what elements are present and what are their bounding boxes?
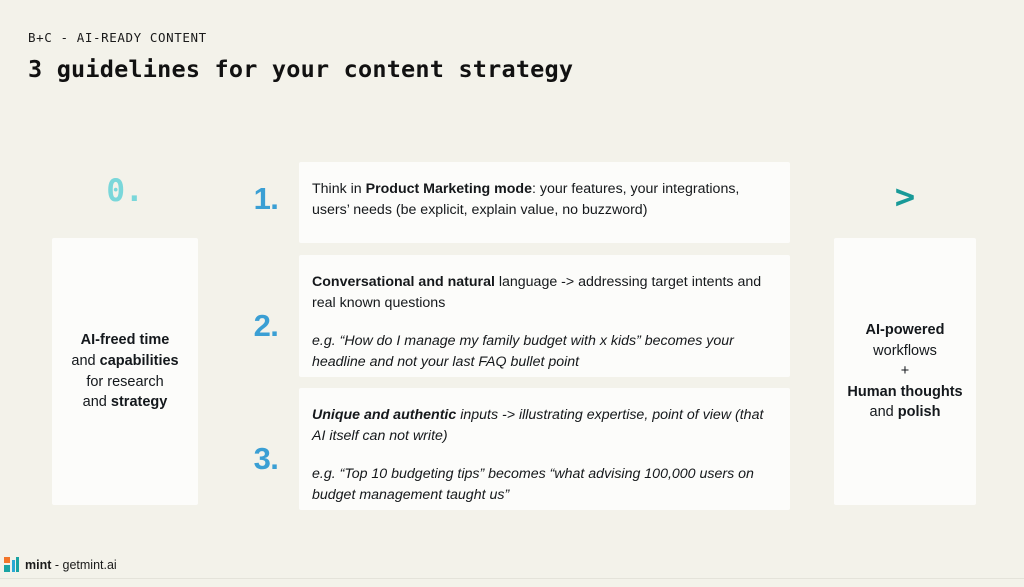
guideline-card-2: Conversational and natural language -> a… [299,255,790,377]
line-bold: AI-freed time [81,332,170,348]
outcome-left-line-2: and capabilities [71,351,178,372]
body-bold: Unique and authentic [312,407,456,423]
line-pre: and [71,353,99,369]
guideline-2-body: Conversational and natural language -> a… [312,272,771,314]
line-pre: + [901,363,909,379]
guideline-2-example: e.g. “How do I manage my family budget w… [312,331,771,373]
line-pre: workflows [873,343,937,359]
guideline-3-body: Unique and authentic inputs -> illustrat… [312,405,771,447]
mint-bar-logo-icon [4,557,19,572]
guideline-card-3: Unique and authentic inputs -> illustrat… [299,388,790,510]
outcome-right-text: AI-powered workflows + Human thoughts an… [847,320,962,423]
guideline-1-body: Think in Product Marketing mode: your fe… [312,179,771,221]
footer: mint - getmint.ai [4,557,117,572]
outcome-right-line-5: and polish [847,402,962,423]
outcome-card-right: AI-powered workflows + Human thoughts an… [834,238,976,505]
outcome-left-line-4: and strategy [71,392,178,413]
brand-url: getmint.ai [63,558,117,572]
body-bold: Product Marketing mode [366,181,532,197]
outcome-left-text: AI-freed time and capabilities for resea… [71,330,178,412]
outcome-left-line-3: for research [71,372,178,393]
line-bold: polish [898,404,941,420]
guideline-card-1: Think in Product Marketing mode: your fe… [299,162,790,243]
eyebrow-label: B+C - AI-READY CONTENT [28,30,573,45]
outcome-right-line-3: + [847,361,962,382]
line-pre: and [83,394,111,410]
guideline-number-2: 2. [238,310,294,341]
body-pre: Think in [312,181,366,197]
chevron-right-icon: > [834,180,976,214]
body-bold: Conversational and natural [312,274,495,290]
guideline-number-1: 1. [238,183,294,214]
guideline-number-3: 3. [238,443,294,474]
line-pre: for research [86,374,163,390]
line-bold: capabilities [100,353,179,369]
outcome-right-line-2: workflows [847,341,962,362]
guideline-3-example: e.g. “Top 10 budgeting tips” becomes “wh… [312,464,771,506]
brand-name: mint [25,558,51,572]
slide-header: B+C - AI-READY CONTENT 3 guidelines for … [28,30,573,83]
step-zero-marker: 0. [52,176,198,207]
footer-divider [0,578,1024,579]
outcome-right-line-4: Human thoughts [847,382,962,403]
line-bold: strategy [111,394,167,410]
outcome-left-line-1: AI-freed time [71,330,178,351]
line-bold: AI-powered [866,322,945,338]
outcome-card-left: AI-freed time and capabilities for resea… [52,238,198,505]
line-pre: and [870,404,898,420]
footer-brand-text: mint - getmint.ai [25,558,117,572]
brand-separator: - [51,558,62,572]
line-bold: Human thoughts [847,384,962,400]
outcome-right-line-1: AI-powered [847,320,962,341]
page-title: 3 guidelines for your content strategy [28,55,573,83]
